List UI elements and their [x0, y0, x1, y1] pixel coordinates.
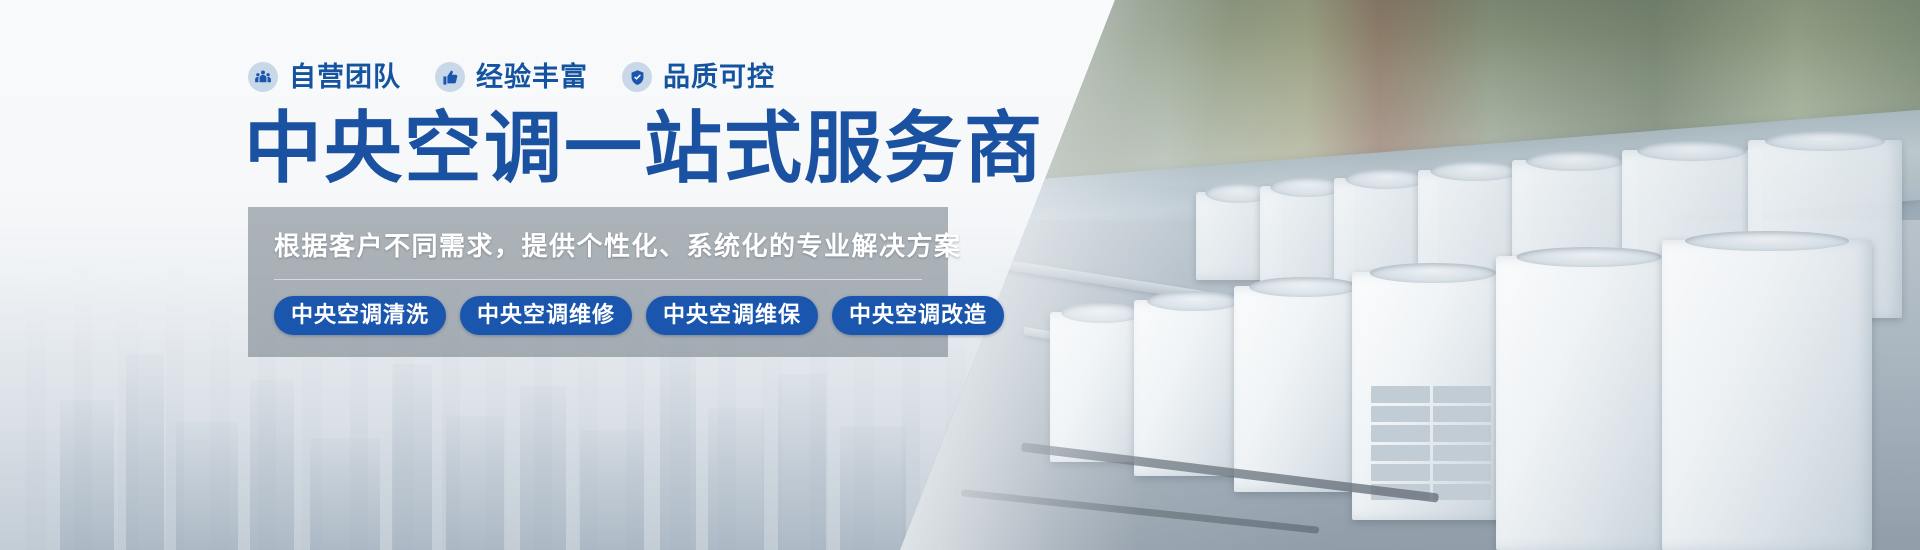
page-title: 中央空调一站式服务商 [244, 108, 1000, 189]
service-tag-cleaning[interactable]: 中央空调清洗 [274, 296, 446, 335]
service-tag-list: 中央空调清洗 中央空调维修 中央空调维保 中央空调改造 [274, 296, 922, 335]
shield-check-icon [622, 62, 652, 92]
panel-divider [274, 279, 922, 280]
feature-item-experience: 经验丰富 [435, 62, 588, 92]
feature-label: 自营团队 [289, 64, 401, 91]
feature-list: 自营团队 经验丰富 品质可控 [248, 62, 1000, 92]
feature-item-quality: 品质可控 [622, 62, 775, 92]
subtitle: 根据客户不同需求，提供个性化、系统化的专业解决方案 [274, 231, 922, 262]
service-tag-retrofit[interactable]: 中央空调改造 [832, 296, 1004, 335]
feature-label: 品质可控 [663, 64, 775, 91]
thumbs-up-icon [435, 62, 465, 92]
service-tag-maintenance[interactable]: 中央空调维保 [646, 296, 818, 335]
banner-content: 自营团队 经验丰富 品质可控 [0, 0, 1000, 550]
feature-label: 经验丰富 [476, 64, 588, 91]
highlight-panel: 根据客户不同需求，提供个性化、系统化的专业解决方案 中央空调清洗 中央空调维修 … [248, 207, 948, 357]
hero-banner: 自营团队 经验丰富 品质可控 [0, 0, 1920, 550]
service-tag-repair[interactable]: 中央空调维修 [460, 296, 632, 335]
feature-item-team: 自营团队 [248, 62, 401, 92]
people-group-icon [248, 62, 278, 92]
